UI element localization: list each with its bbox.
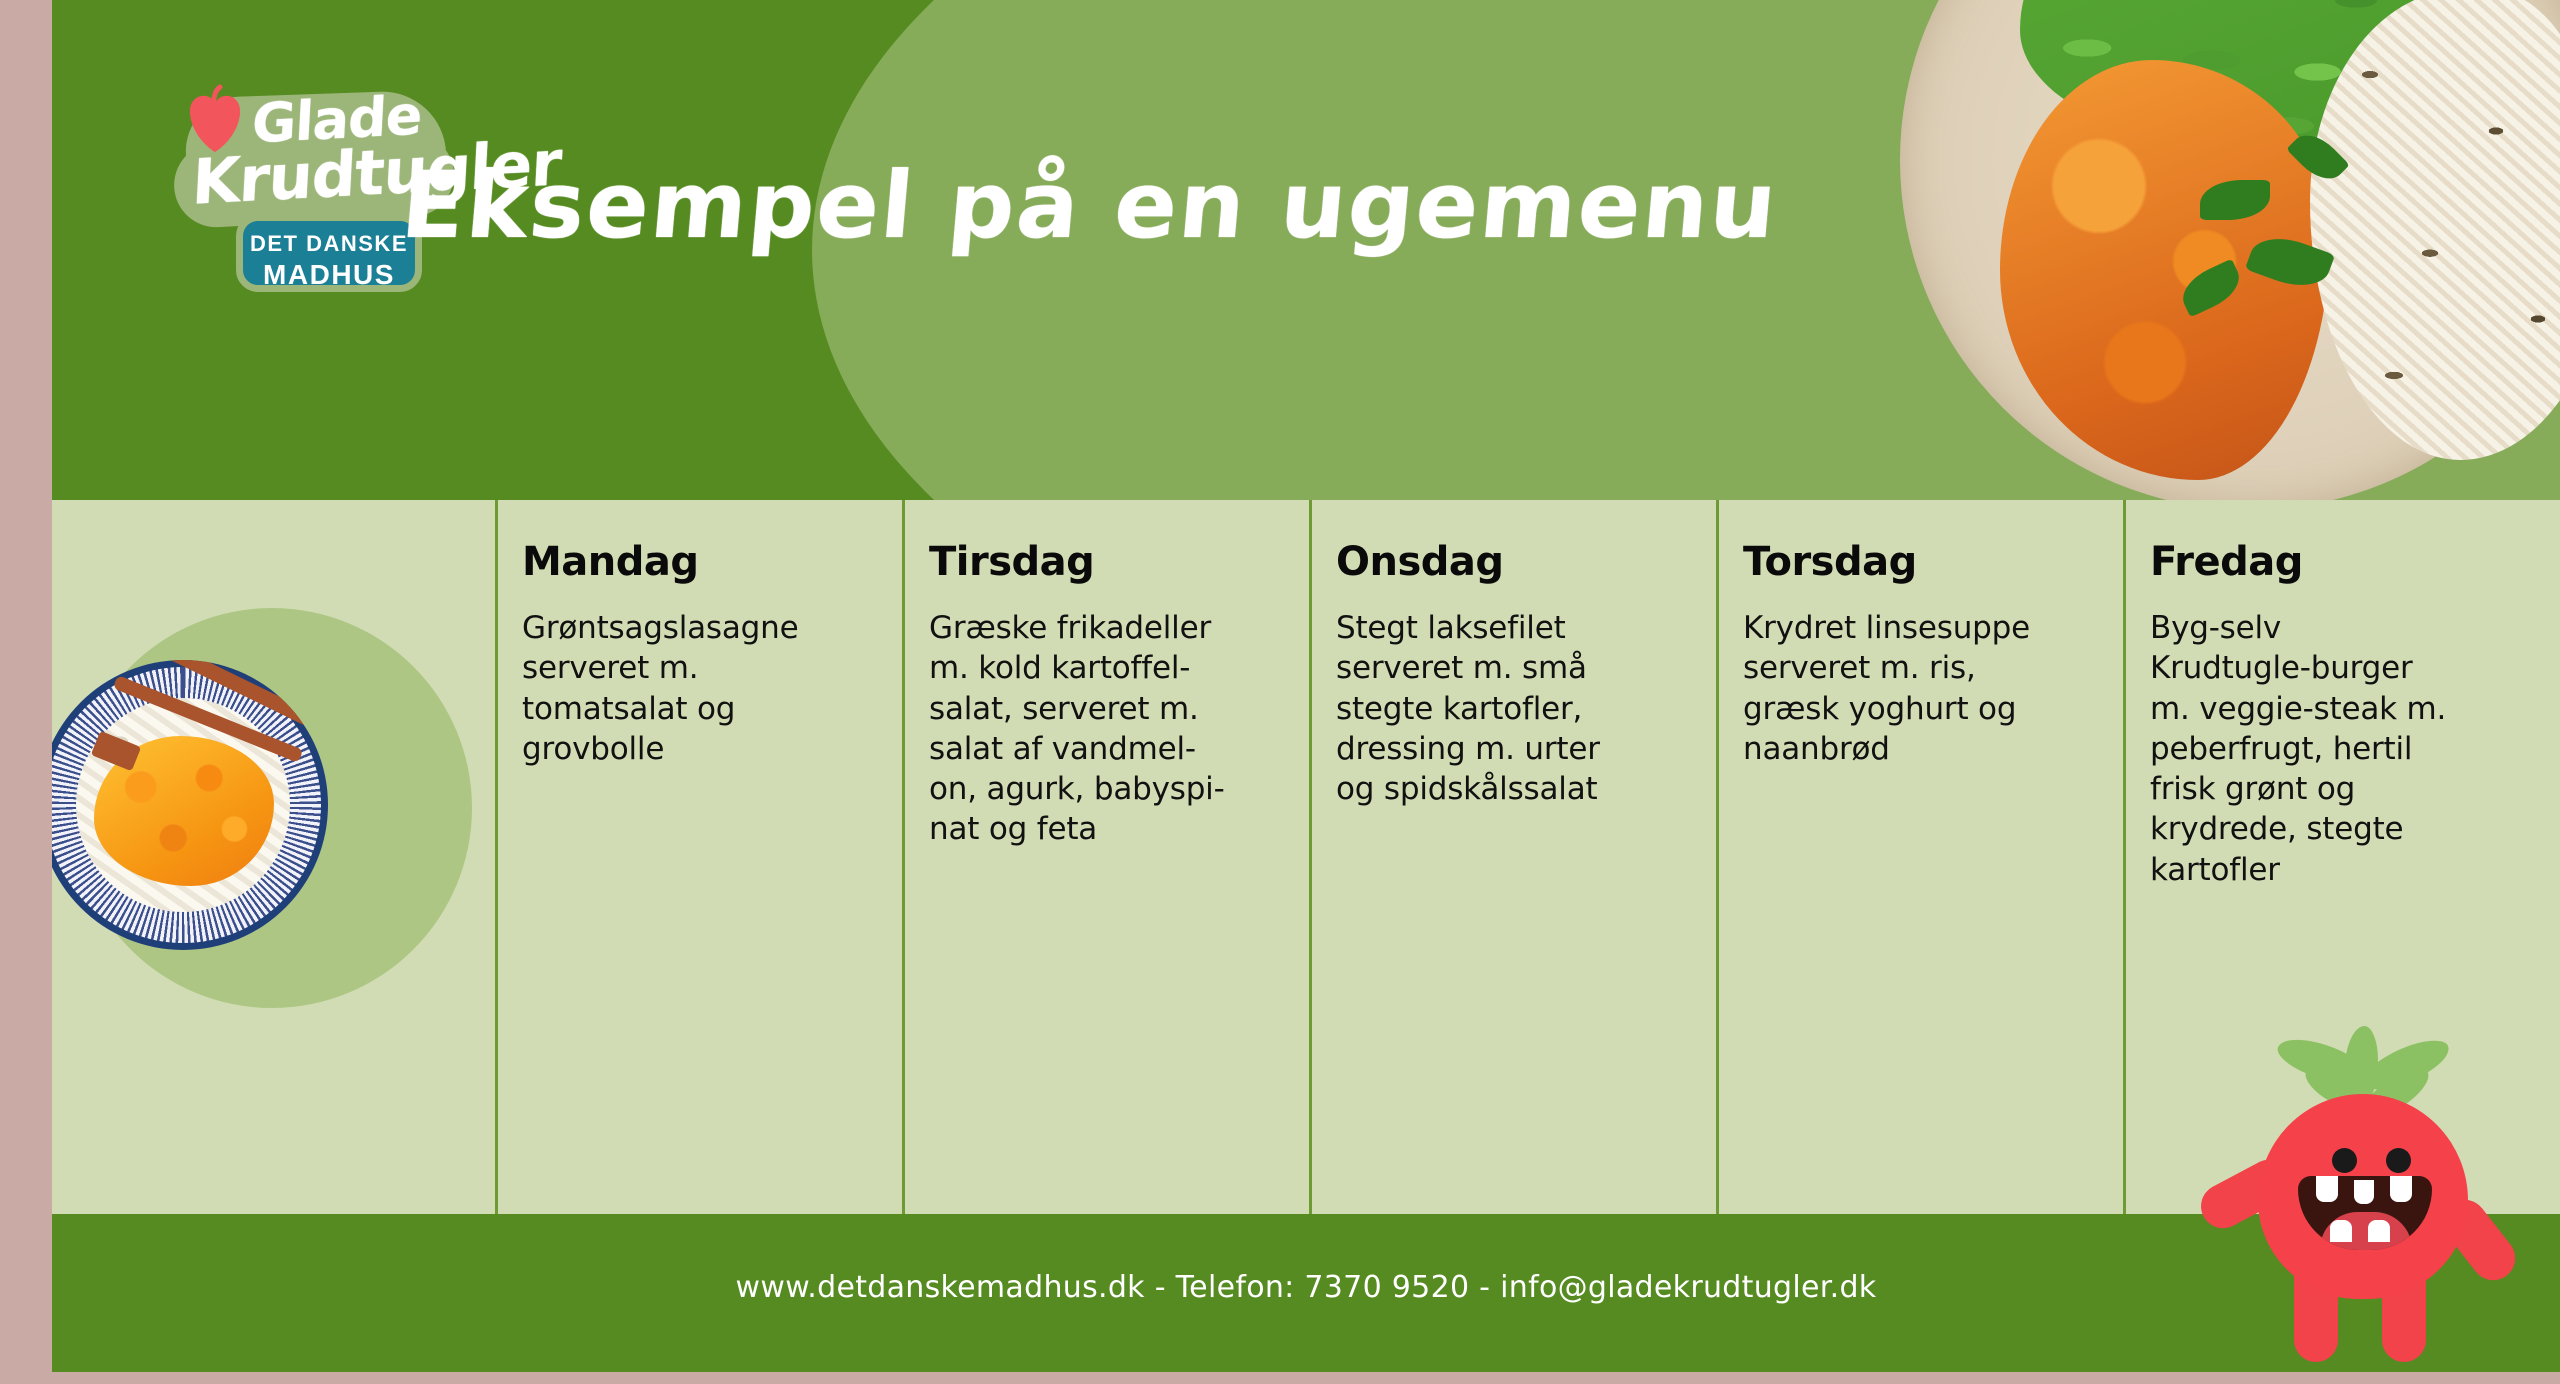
poster-sheet: Glade Krudtugler DET DANSKE MADHUS Eksem… xyxy=(52,0,2560,1372)
plate-graphic xyxy=(1900,0,2560,500)
page-title: Eksempel på en ugemenu xyxy=(397,152,1782,259)
weekly-menu-table: Mandag Grøntsagslasagne serveret m. toma… xyxy=(52,500,2560,1214)
badge-line-1: DET DANSKE xyxy=(243,233,415,255)
day-title: Torsdag xyxy=(1743,542,2093,582)
menu-day-column-onsdag: Onsdag Stegt laksefilet serveret m. små … xyxy=(1309,500,1716,1214)
logo-badge-det-danske-madhus: DET DANSKE MADHUS xyxy=(236,214,422,292)
day-title: Fredag xyxy=(2150,542,2500,582)
poster-page: Glade Krudtugler DET DANSKE MADHUS Eksem… xyxy=(0,0,2560,1384)
footer-contact-text: www.detdanskemadhus.dk - Telefon: 7370 9… xyxy=(52,1270,2560,1305)
mascot-lower-tooth xyxy=(2368,1220,2390,1242)
day-description: Krydret linsesuppe serveret m. ris, græs… xyxy=(1743,608,2093,769)
header-band: Glade Krudtugler DET DANSKE MADHUS Eksem… xyxy=(52,0,2560,500)
mascot-tooth xyxy=(2316,1176,2338,1202)
mascot-tooth xyxy=(2390,1176,2412,1202)
menu-day-column-mandag: Mandag Grøntsagslasagne serveret m. toma… xyxy=(495,500,902,1214)
day-description: Grøntsagslasagne serveret m. tomatsalat … xyxy=(522,608,872,769)
mascot-eye-left xyxy=(2332,1148,2357,1173)
tomato-mascot-icon xyxy=(2202,1022,2532,1372)
day-title: Onsdag xyxy=(1336,542,1686,582)
menu-day-column-torsdag: Torsdag Krydret linsesuppe serveret m. r… xyxy=(1716,500,2123,1214)
badge-line-2: MADHUS xyxy=(243,261,415,289)
day-title: Mandag xyxy=(522,542,872,582)
menu-photo-column xyxy=(52,500,495,1214)
rice-graphic xyxy=(2310,0,2560,460)
day-description: Byg-selv Krudtugle-burger m. veggie-stea… xyxy=(2150,608,2500,890)
menu-day-column-tirsdag: Tirsdag Græske frikadeller m. kold karto… xyxy=(902,500,1309,1214)
mascot-tooth xyxy=(2354,1180,2374,1204)
bottom-frame-strip xyxy=(0,1372,2560,1384)
day-description: Græske frikadeller m. kold kartoffel- sa… xyxy=(929,608,1279,850)
day-title: Tirsdag xyxy=(929,542,1279,582)
mascot-eye-right xyxy=(2386,1148,2411,1173)
mascot-lower-tooth xyxy=(2330,1220,2352,1242)
day-description: Stegt laksefilet serveret m. små stegte … xyxy=(1336,608,1686,809)
header-food-photo xyxy=(1900,0,2560,500)
footer-band: www.detdanskemadhus.dk - Telefon: 7370 9… xyxy=(52,1214,2560,1372)
